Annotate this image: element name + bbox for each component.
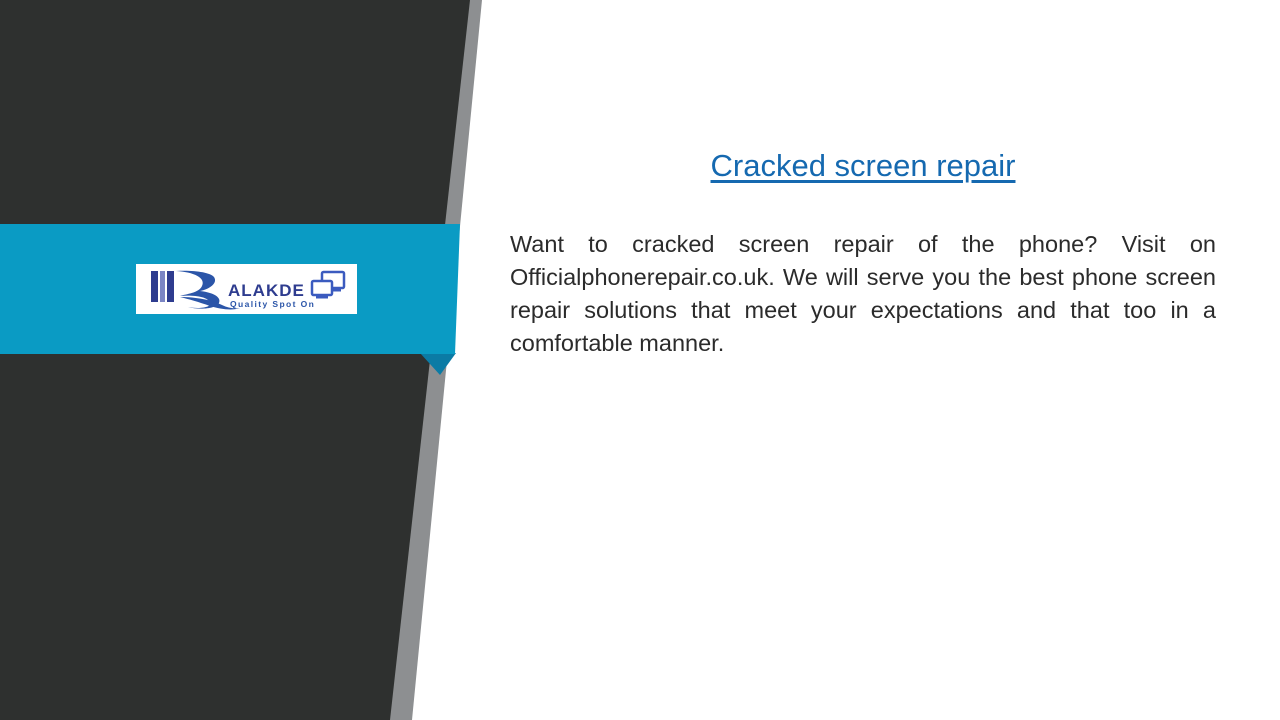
body-paragraph: Want to cracked screen repair of the pho…: [510, 228, 1216, 360]
slide-content: Cracked screen repair Want to cracked sc…: [510, 0, 1216, 720]
title-hyperlink[interactable]: Cracked screen repair: [711, 148, 1016, 183]
logo-plate: ALAKDE Quality Spot On: [136, 264, 357, 314]
slide-canvas: ALAKDE Quality Spot On Cracked screen re…: [0, 0, 1280, 720]
svg-text:ALAKDE: ALAKDE: [228, 281, 305, 300]
page-title: Cracked screen repair: [510, 146, 1216, 186]
left-dark-panel: [0, 0, 500, 720]
balakde-logo-icon: ALAKDE Quality Spot On: [136, 264, 357, 314]
svg-text:Quality Spot On: Quality Spot On: [230, 299, 315, 309]
